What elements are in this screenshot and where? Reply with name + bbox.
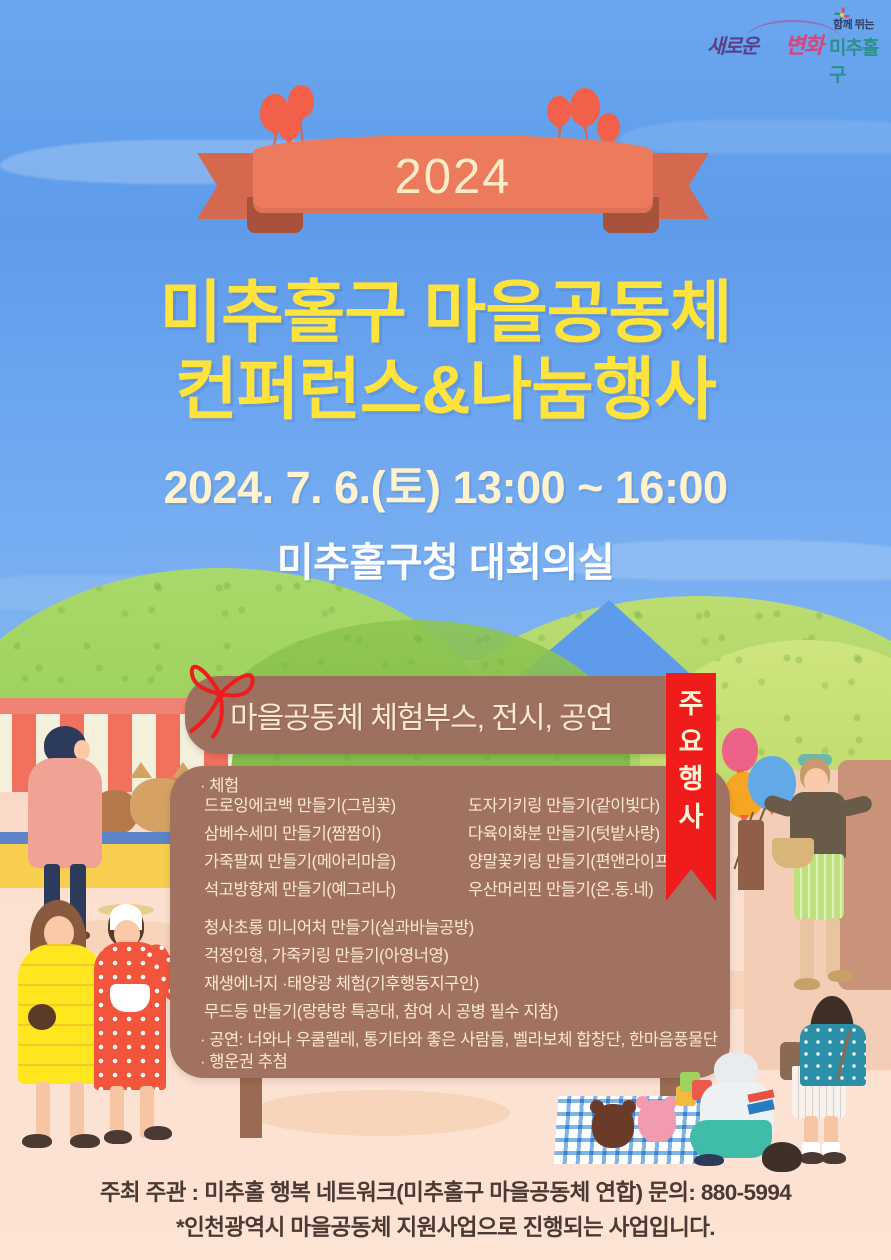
event-poster: 새로운 변화 함께 뛰는 미추홀구 2024 미추홀구 마을공동체 컨퍼런스&나… [0, 0, 891, 1260]
year-banner: 2024 [253, 135, 653, 250]
key-event-ribbon: 주 요 행 사 [666, 673, 716, 901]
activity-item: 드로잉에코백 만들기(그림꽃) [204, 798, 474, 815]
ribbon-char-3: 행 [679, 762, 704, 798]
year-banner-body: 2024 [253, 135, 653, 213]
year-label: 2024 [394, 149, 511, 205]
activity-item: 우산머리핀 만들기(온.동.네) [468, 882, 718, 899]
program-header-label: 마을공동체 체험부스, 전시, 공연 [230, 693, 612, 737]
ribbon-char-4: 사 [679, 800, 704, 836]
performance-line: · 공연: 너와나 우쿨렐레, 통기타와 좋은 사람들, 벨라보체 합창단, 한… [200, 1032, 710, 1049]
program-text-content: · 체험 드로잉에코백 만들기(그림꽃) 삼베수세미 만들기(짬짬이) 가죽팔찌… [200, 778, 710, 1077]
activities-two-column: 드로잉에코백 만들기(그림꽃) 삼베수세미 만들기(짬짬이) 가죽팔찌 만들기(… [200, 798, 710, 920]
logo-sub-text: 함께 뛰는 [833, 16, 874, 32]
activity-item: 삼베수세미 만들기(짬짬이) [204, 826, 474, 843]
ribbon-char-1: 주 [679, 687, 704, 723]
logo-district-name: 미추홀구 [829, 33, 879, 87]
activity-item: 무드등 만들기(랑랑랑 특공대, 참여 시 공병 필수 지참) [204, 1004, 710, 1021]
title-block: 미추홀구 마을공동체 컨퍼런스&나눔행사 2024. 7. 6.(토) 13:0… [0, 275, 891, 588]
activity-item: 청사초롱 미니어처 만들기(실과바늘공방) [204, 920, 710, 937]
activity-item: 걱정인형, 가죽키링 만들기(아영너영) [204, 948, 710, 965]
lottery-line: · 행운권 추첨 [200, 1054, 710, 1071]
bow-icon [168, 648, 272, 740]
shoulder-bag [110, 984, 150, 1012]
activities-column-left: 드로잉에코백 만들기(그림꽃) 삼베수세미 만들기(짬짬이) 가죽팔찌 만들기(… [204, 798, 474, 910]
logo-script-text: 새로운 [707, 30, 758, 59]
event-datetime: 2024. 7. 6.(토) 13:00 ~ 16:00 [0, 451, 891, 516]
activity-item: 석고방향제 만들기(예그리나) [204, 882, 474, 899]
event-venue: 미추홀구청 대회의실 [0, 530, 891, 588]
activity-item: 가죽팔찌 만들기(메아리마을) [204, 854, 474, 871]
title-line-1: 미추홀구 마을공동체 [0, 275, 891, 352]
logo: 새로운 변화 함께 뛰는 미추홀구 [707, 8, 879, 64]
cloud-icon [620, 120, 891, 154]
basket-icon [772, 838, 814, 868]
footer-line-2: *인천광역시 마을공동체 지원사업으로 진행되는 사업입니다. [0, 1211, 891, 1246]
logo-change-text: 변화 [785, 28, 822, 60]
tree-trunk-right [838, 760, 891, 990]
ribbon-char-2: 요 [679, 725, 704, 761]
experience-section-label: · 체험 [200, 778, 710, 795]
activity-item: 재생에너지 ·태양광 체험(기후행동지구인) [204, 976, 710, 993]
title-line-2: 컨퍼런스&나눔행사 [0, 352, 891, 429]
footer: 주최 주관 : 미추홀 행복 네트워크(미추홀구 마을공동체 연합) 문의: 8… [0, 1176, 891, 1246]
footer-line-1: 주최 주관 : 미추홀 행복 네트워크(미추홀구 마을공동체 연합) 문의: 8… [0, 1176, 891, 1211]
